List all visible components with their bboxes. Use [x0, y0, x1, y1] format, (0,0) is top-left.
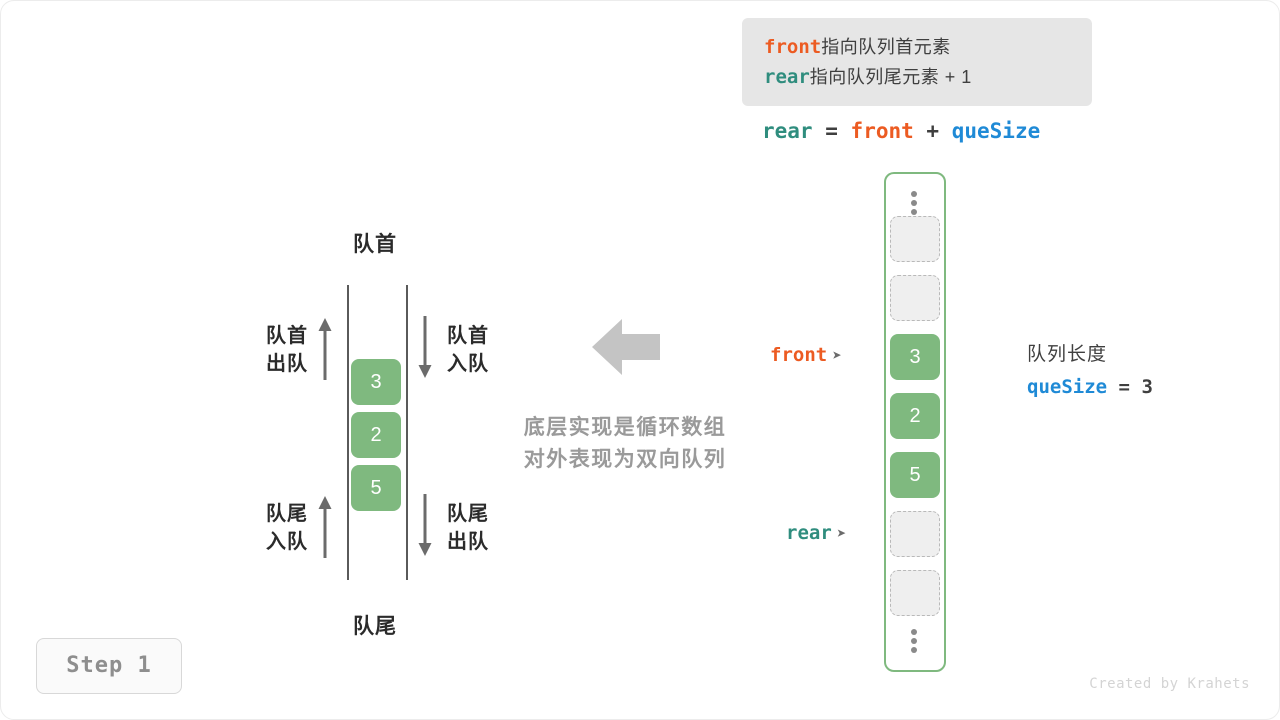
arrow-up-tail-enqueue [314, 494, 336, 558]
label-tail-enqueue-line2: 入队 [248, 528, 308, 556]
deque-cell: 2 [351, 412, 401, 458]
formula-front: front [851, 119, 914, 143]
formula-rear: rear [762, 119, 813, 143]
legend-front-token: front [764, 36, 821, 58]
label-tail-dequeue-line2: 出队 [447, 528, 517, 556]
formula-quesize: queSize [952, 119, 1041, 143]
deque-head-label: 队首 [300, 228, 450, 258]
label-tail-dequeue: 队尾 出队 [447, 500, 517, 556]
deque-cell: 3 [351, 359, 401, 405]
label-tail-enqueue: 队尾 入队 [248, 500, 308, 556]
queue-size-info: 队列长度 queSize = 3 [1027, 340, 1153, 404]
array-slot-filled: 5 [890, 452, 940, 498]
legend-rear-desc: 指向队列尾元素 + 1 [810, 67, 972, 87]
queue-size-expression: queSize = 3 [1027, 370, 1153, 404]
deque-rail-left [347, 285, 349, 580]
formula-equals: = [825, 119, 838, 143]
diagram-canvas: front指向队列首元素 rear指向队列尾元素 + 1 rear = fron… [0, 0, 1280, 720]
arrow-down-tail-dequeue [414, 494, 436, 558]
formula-rear-equals-front-plus-quesize: rear = front + queSize [762, 119, 1040, 143]
array-slot-filled: 2 [890, 393, 940, 439]
array-ellipsis-bottom-icon [911, 626, 919, 656]
center-caption-line2: 对外表现为双向队列 [480, 444, 770, 476]
arrow-up-head-dequeue [314, 316, 336, 380]
left-block-arrow-icon [592, 318, 660, 376]
center-caption-line1: 底层实现是循环数组 [480, 412, 770, 444]
array-slot-empty [890, 275, 940, 321]
array-slot-empty [890, 216, 940, 262]
circular-array-container: 3 2 5 [884, 172, 946, 672]
deque-rail-right [406, 285, 408, 580]
pointer-front-label: front [770, 344, 827, 366]
label-tail-dequeue-line1: 队尾 [447, 500, 517, 528]
quesize-equals: = [1119, 376, 1130, 398]
array-slot-filled: 3 [890, 334, 940, 380]
array-slot-empty [890, 511, 940, 557]
quesize-value: 3 [1141, 376, 1152, 398]
legend-row-front: front指向队列首元素 [764, 32, 1092, 62]
label-head-dequeue-line1: 队首 [248, 322, 308, 350]
deque-cell: 5 [351, 465, 401, 511]
label-head-enqueue-line2: 入队 [447, 350, 517, 378]
label-head-enqueue-line1: 队首 [447, 322, 517, 350]
arrow-down-head-enqueue [414, 316, 436, 380]
legend-box: front指向队列首元素 rear指向队列尾元素 + 1 [742, 18, 1092, 106]
footer-credit: Created by Krahets [1070, 676, 1250, 692]
label-head-enqueue: 队首 入队 [447, 322, 517, 378]
pointer-front-arrow-icon: ➤ [832, 346, 842, 365]
label-tail-enqueue-line1: 队尾 [248, 500, 308, 528]
pointer-rear: rear➤ [786, 522, 846, 544]
pointer-front: front➤ [770, 344, 842, 366]
label-head-dequeue-line2: 出队 [248, 350, 308, 378]
queue-size-label: 队列长度 [1027, 340, 1153, 370]
legend-row-rear: rear指向队列尾元素 + 1 [764, 62, 1092, 92]
legend-front-desc: 指向队列首元素 [821, 37, 951, 57]
step-badge: Step 1 [36, 638, 182, 694]
pointer-rear-arrow-icon: ➤ [837, 524, 847, 543]
pointer-rear-label: rear [786, 522, 832, 544]
legend-rear-token: rear [764, 66, 810, 88]
array-ellipsis-top-icon [911, 188, 919, 218]
center-caption: 底层实现是循环数组 对外表现为双向队列 [480, 412, 770, 476]
deque-tail-label: 队尾 [300, 610, 450, 640]
array-slot-empty [890, 570, 940, 616]
label-head-dequeue: 队首 出队 [248, 322, 308, 378]
quesize-var: queSize [1027, 376, 1107, 398]
formula-plus: + [926, 119, 939, 143]
